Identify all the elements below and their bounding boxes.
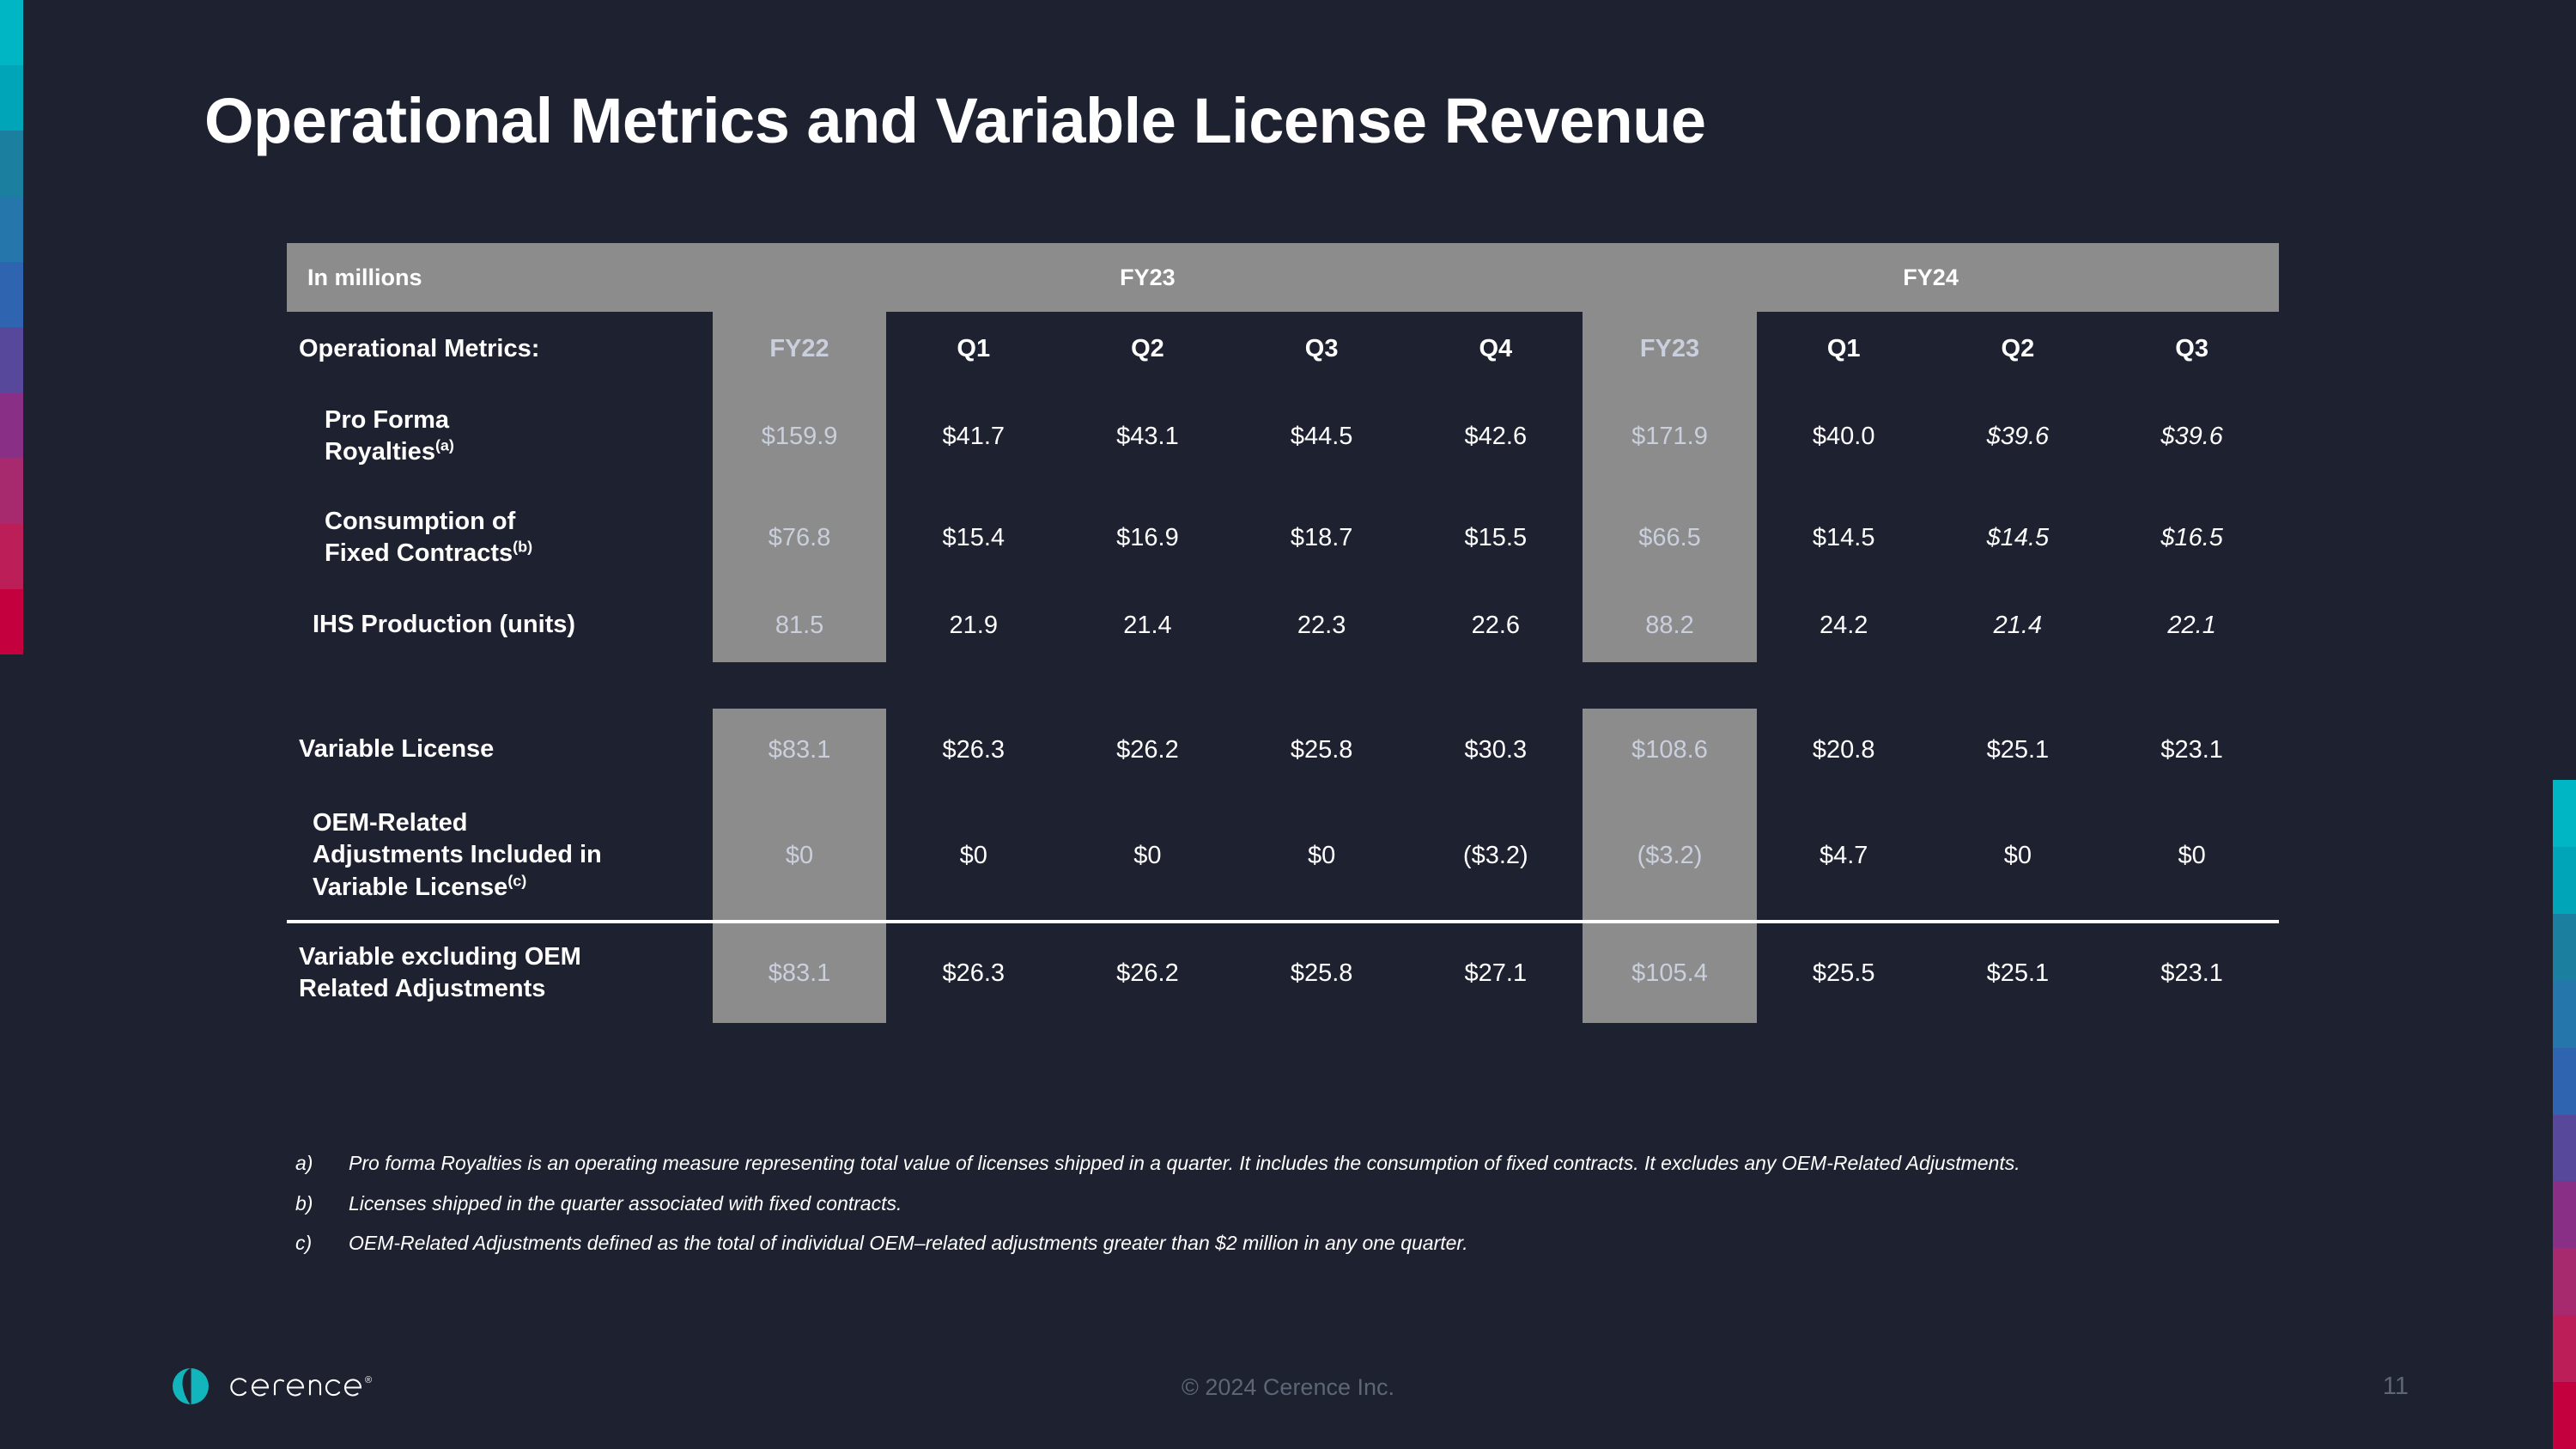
row-label-pro-forma-royalties: Pro FormaRoyalties(a) — [287, 386, 713, 487]
gradient-segment-0 — [2553, 780, 2576, 847]
cell-value: $15.5 — [1408, 487, 1583, 588]
spacer-cell — [2105, 662, 2279, 709]
spacer-cell — [1931, 662, 2105, 709]
cell-value: $14.5 — [1931, 487, 2105, 588]
cell-value: $18.7 — [1235, 487, 1409, 588]
spacer-cell — [1060, 662, 1235, 709]
column-header-q2: Q2 — [1931, 312, 2105, 386]
gradient-segment-7 — [2553, 1248, 2576, 1315]
cell-value: $0 — [886, 791, 1060, 920]
cell-value: $41.7 — [886, 386, 1060, 487]
gradient-segment-2 — [0, 131, 23, 196]
cell-value: $14.5 — [1757, 487, 1931, 588]
operational-metrics-table: In millionsFY23FY24Operational Metrics:F… — [287, 243, 2279, 1023]
footnote-item: c)OEM-Related Adjustments defined as the… — [295, 1229, 2296, 1257]
cell-value: $0 — [1931, 791, 2105, 920]
cell-value: $43.1 — [1060, 386, 1235, 487]
cell-value: $83.1 — [713, 709, 887, 791]
gradient-segment-4 — [2553, 1048, 2576, 1115]
row-label-ihs-production-units: IHS Production (units) — [287, 588, 713, 662]
cell-value: $4.7 — [1757, 791, 1931, 920]
cell-value: $44.5 — [1235, 386, 1409, 487]
spacer-cell — [1583, 662, 1757, 709]
table-row: Consumption of Fixed Contracts(b)$76.8$1… — [287, 487, 2279, 588]
cell-value: $15.4 — [886, 487, 1060, 588]
cell-value: $83.1 — [713, 922, 887, 1023]
table-row: IHS Production (units)81.521.921.422.322… — [287, 588, 2279, 662]
gradient-segment-6 — [0, 393, 23, 458]
cell-value: $16.5 — [2105, 487, 2279, 588]
cell-value: $27.1 — [1408, 922, 1583, 1023]
footnote-text: Licenses shipped in the quarter associat… — [349, 1190, 2296, 1218]
cell-value: $25.1 — [1931, 922, 2105, 1023]
cell-value: $26.3 — [886, 709, 1060, 791]
cell-value: $26.2 — [1060, 709, 1235, 791]
slide-root: Operational Metrics and Variable License… — [0, 0, 2576, 1449]
gradient-segment-8 — [0, 524, 23, 589]
cell-value: 88.2 — [1583, 588, 1757, 662]
cell-value: $23.1 — [2105, 709, 2279, 791]
left-gradient-strip — [0, 0, 23, 654]
table-subheader-row: Operational Metrics:FY22Q1Q2Q3Q4FY23Q1Q2… — [287, 312, 2279, 386]
cell-value: $39.6 — [2105, 386, 2279, 487]
gradient-segment-6 — [2553, 1181, 2576, 1248]
footnotes-list: a)Pro forma Royalties is an operating me… — [295, 1149, 2296, 1269]
gradient-segment-1 — [2553, 847, 2576, 914]
cell-value: 21.4 — [1060, 588, 1235, 662]
section-label-operational-metrics: Operational Metrics: — [287, 312, 713, 386]
column-header-q1: Q1 — [886, 312, 1060, 386]
band-group-fy23: FY23 — [713, 243, 1583, 312]
footnote-mark: a) — [295, 1149, 349, 1178]
cell-value: $25.1 — [1931, 709, 2105, 791]
row-label-oem-related-adjustments-included-in-variable-license: OEM-RelatedAdjustments Included inVariab… — [287, 791, 713, 920]
metrics-table-container: In millionsFY23FY24Operational Metrics:F… — [287, 243, 2279, 1023]
column-header-q3: Q3 — [1235, 312, 1409, 386]
table-row: Variable License$83.1$26.3$26.2$25.8$30.… — [287, 709, 2279, 791]
cell-value: $23.1 — [2105, 922, 2279, 1023]
table-row: Pro FormaRoyalties(a)$159.9$41.7$43.1$44… — [287, 386, 2279, 487]
gradient-segment-9 — [0, 589, 23, 654]
cell-value: $0 — [1060, 791, 1235, 920]
spacer-cell — [1757, 662, 1931, 709]
cell-value: 22.3 — [1235, 588, 1409, 662]
row-label-consumption-of-fixed-contracts: Consumption of Fixed Contracts(b) — [287, 487, 713, 588]
cell-value: 24.2 — [1757, 588, 1931, 662]
band-group-fy24: FY24 — [1583, 243, 2279, 312]
column-header-q4: Q4 — [1408, 312, 1583, 386]
cell-value: $25.8 — [1235, 709, 1409, 791]
row-label-variable-license: Variable License — [287, 709, 713, 791]
column-header-fy22: FY22 — [713, 312, 887, 386]
cell-value: 22.6 — [1408, 588, 1583, 662]
cell-value: $105.4 — [1583, 922, 1757, 1023]
gradient-segment-5 — [2553, 1115, 2576, 1182]
spacer-cell — [886, 662, 1060, 709]
gradient-segment-2 — [2553, 914, 2576, 981]
footnote-item: a)Pro forma Royalties is an operating me… — [295, 1149, 2296, 1178]
copyright-text: © 2024 Cerence Inc. — [0, 1374, 2576, 1401]
cell-value: $171.9 — [1583, 386, 1757, 487]
footnote-text: OEM-Related Adjustments defined as the t… — [349, 1229, 2296, 1257]
gradient-segment-7 — [0, 458, 23, 523]
cell-value: $25.8 — [1235, 922, 1409, 1023]
right-gradient-strip — [2553, 780, 2576, 1449]
table-row: Variable excluding OEMRelated Adjustment… — [287, 922, 2279, 1023]
cell-value: $39.6 — [1931, 386, 2105, 487]
cell-value: 22.1 — [2105, 588, 2279, 662]
cell-value: $42.6 — [1408, 386, 1583, 487]
gradient-segment-3 — [2553, 981, 2576, 1048]
cell-value: $20.8 — [1757, 709, 1931, 791]
cell-value: $0 — [713, 791, 887, 920]
spacer-cell — [713, 662, 887, 709]
cell-value: $25.5 — [1757, 922, 1931, 1023]
cell-value: $0 — [1235, 791, 1409, 920]
column-header-q2: Q2 — [1060, 312, 1235, 386]
gradient-segment-3 — [0, 197, 23, 262]
footnote-text: Pro forma Royalties is an operating meas… — [349, 1149, 2296, 1178]
cell-value: $30.3 — [1408, 709, 1583, 791]
page-title: Operational Metrics and Variable License… — [204, 84, 1706, 157]
footnote-marker: (b) — [513, 538, 532, 555]
unit-label: In millions — [287, 243, 713, 312]
cell-value: $76.8 — [713, 487, 887, 588]
gradient-segment-8 — [2553, 1315, 2576, 1382]
cell-value: $26.2 — [1060, 922, 1235, 1023]
cell-value: $0 — [2105, 791, 2279, 920]
gradient-segment-4 — [0, 262, 23, 327]
gradient-segment-0 — [0, 0, 23, 65]
table-band-row: In millionsFY23FY24 — [287, 243, 2279, 312]
page-number: 11 — [2383, 1373, 2409, 1401]
spacer-cell — [1235, 662, 1409, 709]
cell-value: ($3.2) — [1583, 791, 1757, 920]
gradient-segment-5 — [0, 327, 23, 393]
column-header-q1: Q1 — [1757, 312, 1931, 386]
column-header-fy23: FY23 — [1583, 312, 1757, 386]
cell-value: $16.9 — [1060, 487, 1235, 588]
cell-value: 21.9 — [886, 588, 1060, 662]
row-label-variable-excluding-oem-related-adjustments: Variable excluding OEMRelated Adjustment… — [287, 922, 713, 1023]
table-spacer-row — [287, 662, 2279, 709]
cell-value: $40.0 — [1757, 386, 1931, 487]
cell-value: $159.9 — [713, 386, 887, 487]
footnote-marker: (a) — [435, 436, 454, 454]
cell-value: $26.3 — [886, 922, 1060, 1023]
footnote-marker: (c) — [507, 872, 526, 889]
footnote-mark: b) — [295, 1190, 349, 1218]
cell-value: 81.5 — [713, 588, 887, 662]
footnote-item: b)Licenses shipped in the quarter associ… — [295, 1190, 2296, 1218]
spacer-cell — [1408, 662, 1583, 709]
table-row: OEM-RelatedAdjustments Included inVariab… — [287, 791, 2279, 920]
column-header-q3: Q3 — [2105, 312, 2279, 386]
gradient-segment-1 — [0, 65, 23, 131]
footnote-mark: c) — [295, 1229, 349, 1257]
spacer-cell — [287, 662, 713, 709]
cell-value: $66.5 — [1583, 487, 1757, 588]
cell-value: $108.6 — [1583, 709, 1757, 791]
cell-value: 21.4 — [1931, 588, 2105, 662]
cell-value: ($3.2) — [1408, 791, 1583, 920]
